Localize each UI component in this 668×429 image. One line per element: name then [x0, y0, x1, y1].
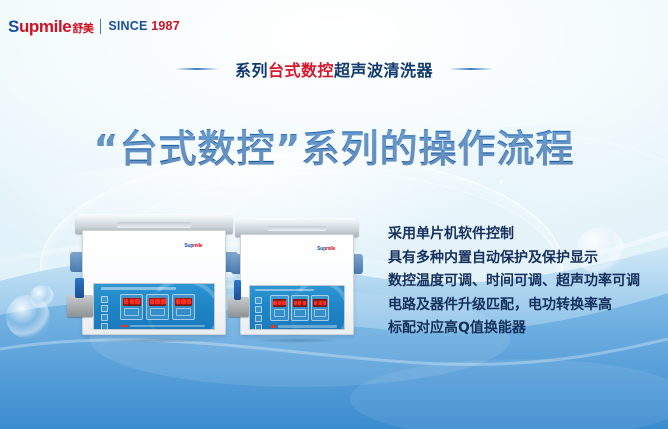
display-sub-button[interactable]	[176, 308, 191, 316]
panel-key[interactable]	[255, 315, 262, 322]
page-title: “台式数控”系列的操作流程	[0, 118, 668, 173]
display-module	[120, 294, 143, 320]
product-brand-s: Sup	[317, 246, 326, 252]
panel-footer-label	[278, 325, 337, 328]
led-digit	[130, 299, 134, 304]
product-body: Supmile	[82, 230, 226, 335]
subtitle-suffix: 超声波清洗器	[334, 61, 433, 80]
led-digit	[124, 299, 128, 304]
led-digit	[176, 299, 180, 304]
feature-list: 采用单片机软件控制 具有多种内置自动保护及保护显示 数控温度可调、时间可调、超声…	[388, 226, 640, 338]
led-readout	[273, 299, 286, 307]
drain-valve	[67, 295, 93, 316]
panel-model-label	[255, 289, 314, 291]
led-digit	[181, 299, 185, 304]
product-shadow	[237, 337, 357, 344]
feature-item: 具有多种内置自动保护及保护显示	[388, 250, 640, 268]
product-shadow	[79, 337, 230, 344]
display-module	[172, 294, 195, 320]
product-brand-s: Sup	[184, 243, 193, 249]
product-brand-r: mile	[326, 246, 335, 252]
brand-logo: Supmile舒美 SINCE 1987	[8, 18, 180, 35]
control-panel[interactable]	[93, 283, 215, 330]
display-module	[146, 294, 169, 320]
panel-key-column[interactable]	[101, 296, 108, 331]
led-digit	[135, 299, 139, 304]
brand-since: SINCE 1987	[108, 20, 180, 33]
rule-left-icon	[175, 68, 219, 70]
led-readout	[293, 299, 306, 307]
led-digit	[278, 301, 281, 306]
panel-key[interactable]	[101, 305, 108, 312]
display-module	[270, 295, 288, 320]
led-digit	[150, 299, 154, 304]
led-readout	[123, 298, 141, 306]
feature-item: 数控温度可调、时间可调、超声功率可调	[388, 273, 640, 291]
panel-footer-label	[130, 325, 205, 328]
led-digit	[294, 301, 297, 306]
led-digit	[314, 301, 317, 306]
display-module	[311, 295, 329, 320]
subtitle-highlight: 台式数控	[268, 61, 334, 80]
led-digit	[282, 301, 285, 306]
product-image-small: Supmile	[232, 218, 362, 339]
panel-key[interactable]	[255, 297, 262, 304]
led-digit	[303, 301, 306, 306]
since-year: 1987	[151, 19, 180, 33]
product-image-large: Supmile	[72, 214, 236, 339]
product-brand-r: mile	[193, 243, 202, 249]
panel-display-group	[120, 294, 195, 320]
led-digit	[155, 299, 159, 304]
led-digit	[273, 301, 276, 306]
led-digit	[187, 299, 191, 304]
since-label: SINCE	[108, 19, 147, 33]
brand-initial: S	[8, 17, 19, 36]
subtitle-strip: 系列台式数控超声波清洗器	[0, 57, 668, 81]
slide-canvas: Supmile舒美 SINCE 1987 系列台式数控超声波清洗器 “台式数控”…	[0, 0, 668, 429]
display-sub-button[interactable]	[274, 309, 286, 317]
led-readout	[175, 298, 193, 306]
panel-model-label	[101, 287, 176, 289]
brand-wordmark: Supmile舒美	[8, 18, 93, 35]
display-module	[291, 295, 309, 320]
display-sub-button[interactable]	[124, 308, 139, 316]
drain-valve	[228, 297, 249, 318]
brand-name: upmile	[19, 17, 71, 36]
feature-item: 电路及器件升级匹配，电功转换率高	[388, 297, 640, 315]
panel-display-group	[270, 295, 329, 320]
panel-key[interactable]	[101, 296, 108, 303]
product-brand-mark: Supmile	[317, 246, 335, 252]
led-digit	[298, 301, 301, 306]
display-sub-button[interactable]	[294, 309, 306, 317]
led-digit	[323, 301, 326, 306]
panel-key-column[interactable]	[255, 297, 262, 330]
display-sub-button[interactable]	[150, 308, 165, 316]
panel-key[interactable]	[255, 306, 262, 313]
product-body: Supmile	[240, 234, 354, 336]
control-panel[interactable]	[249, 285, 346, 331]
led-readout	[313, 299, 326, 307]
led-digit	[319, 301, 322, 306]
product-brand-mark: Supmile	[184, 243, 202, 249]
feature-item: 标配对应高Q值换能器	[388, 320, 640, 338]
led-readout	[149, 298, 167, 306]
brand-name-chinese: 舒美	[72, 23, 93, 35]
feature-item: 采用单片机软件控制	[388, 226, 640, 244]
subtitle-prefix: 系列	[235, 61, 268, 80]
decor-dot-2	[222, 176, 225, 179]
panel-key[interactable]	[101, 323, 108, 330]
panel-key[interactable]	[101, 314, 108, 321]
led-digit	[161, 299, 165, 304]
logo-divider	[100, 19, 101, 34]
subtitle-text: 系列台式数控超声波清洗器	[235, 57, 433, 81]
decor-dot-3	[500, 180, 503, 183]
display-sub-button[interactable]	[314, 309, 326, 317]
rule-right-icon	[449, 68, 493, 70]
panel-key[interactable]	[255, 324, 262, 330]
